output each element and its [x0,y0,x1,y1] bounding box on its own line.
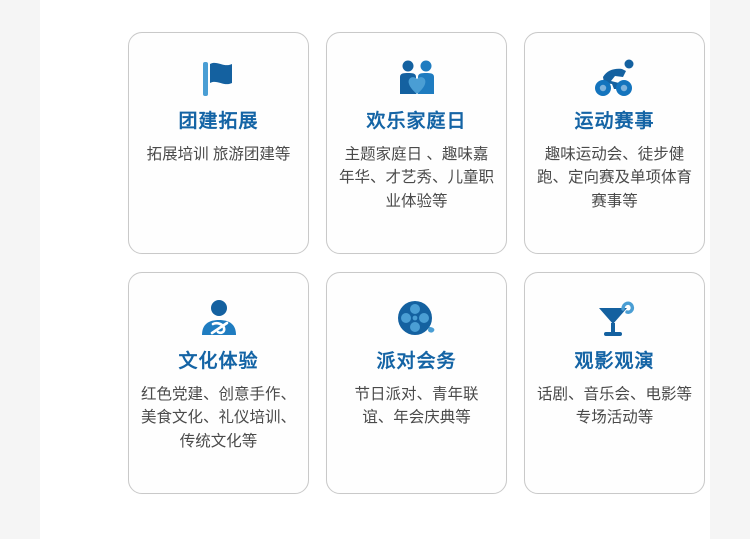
card-description: 主题家庭日 、趣味嘉年华、才艺秀、儿童职业体验等 [338,143,496,214]
service-card-sports-events[interactable]: 运动赛事 趣味运动会、徒步健跑、定向赛及单项体育赛事等 [524,32,705,254]
flag-icon [191,55,247,103]
card-title: 派对会务 [376,351,456,374]
card-title: 运动赛事 [574,111,654,134]
cocktail-icon [587,295,643,343]
service-card-family-day[interactable]: 欢乐家庭日 主题家庭日 、趣味嘉年华、才艺秀、儿童职业体验等 [326,32,507,254]
service-card-culture-experience[interactable]: 文化体验 红色党建、创意手作、美食文化、礼仪培训、传统文化等 [128,272,309,494]
card-description: 趣味运动会、徒步健跑、定向赛及单项体育赛事等 [536,143,694,214]
card-description: 节日派对、青年联谊、年会庆典等 [342,383,492,430]
card-description: 话剧、音乐会、电影等专场活动等 [535,383,695,430]
card-title: 欢乐家庭日 [366,111,466,134]
service-card-party-events[interactable]: 派对会务 节日派对、青年联谊、年会庆典等 [326,272,507,494]
card-title: 团建拓展 [178,111,258,134]
service-card-team-building[interactable]: 团建拓展 拓展培训 旅游团建等 [128,32,309,254]
card-description: 拓展培训 旅游团建等 [144,143,294,167]
service-card-movies-shows[interactable]: 观影观演 话剧、音乐会、电影等专场活动等 [524,272,705,494]
card-title: 文化体验 [178,351,258,374]
content-area: 团建拓展 拓展培训 旅游团建等 欢乐家庭日 主题家庭日 、趣味嘉年华、才艺秀、儿… [40,0,710,539]
service-card-grid: 团建拓展 拓展培训 旅游团建等 欢乐家庭日 主题家庭日 、趣味嘉年华、才艺秀、儿… [128,32,706,494]
page-root: 团建拓展 拓展培训 旅游团建等 欢乐家庭日 主题家庭日 、趣味嘉年华、才艺秀、儿… [0,0,750,539]
film-reel-icon [389,295,445,343]
card-title: 观影观演 [574,351,654,374]
card-description: 红色党建、创意手作、美食文化、礼仪培训、传统文化等 [140,383,298,454]
family-icon [389,55,445,103]
cyclist-icon [587,55,643,103]
culture-person-icon [191,295,247,343]
